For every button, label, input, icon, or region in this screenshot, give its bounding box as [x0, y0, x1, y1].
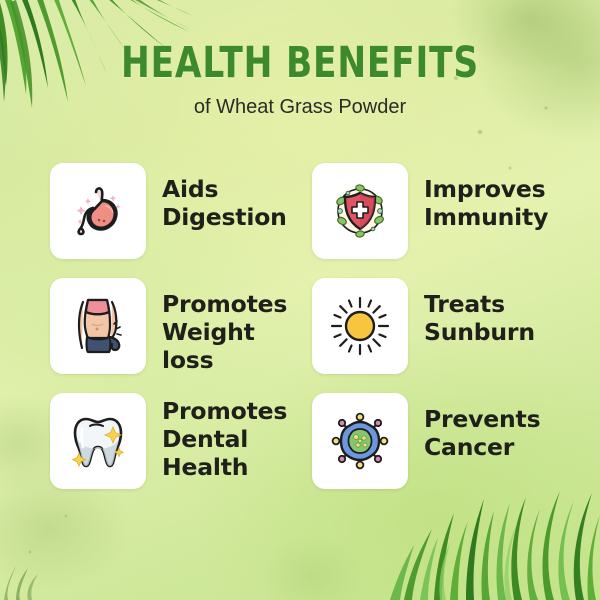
benefit-item-prevents-cancer[interactable]: Prevents Cancer [312, 393, 570, 508]
icon-card-dental [50, 393, 146, 489]
poster-header: HEALTH BENEFITS of Wheat Grass Powder [0, 40, 600, 119]
benefit-label-promotes-weight-loss: Promotes Weight loss [162, 278, 312, 374]
benefits-grid: Aids Digestion [50, 163, 570, 508]
page-title: HEALTH BENEFITS [60, 40, 540, 86]
slim-waist-icon [66, 294, 130, 358]
benefit-label-promotes-dental-health: Promotes Dental Health [162, 393, 287, 481]
benefit-label-improves-immunity: Improves Immunity [424, 163, 548, 231]
benefit-label-treats-sunburn: Treats Sunburn [424, 278, 535, 346]
stomach-icon [66, 179, 130, 243]
shield-cross-icon [328, 179, 392, 243]
benefit-item-promotes-weight-loss[interactable]: Promotes Weight loss [50, 278, 312, 393]
benefit-item-treats-sunburn[interactable]: Treats Sunburn [312, 278, 570, 393]
icon-card-sunburn [312, 278, 408, 374]
benefit-label-prevents-cancer: Prevents Cancer [424, 393, 540, 461]
benefit-item-aids-digestion[interactable]: Aids Digestion [50, 163, 312, 278]
icon-card-weight-loss [50, 278, 146, 374]
sun-icon [328, 294, 392, 358]
page-subtitle: of Wheat Grass Powder [0, 95, 600, 119]
icon-card-digestion [50, 163, 146, 259]
icon-card-immunity [312, 163, 408, 259]
infographic-poster: HEALTH BENEFITS of Wheat Grass Powder [0, 0, 600, 600]
cancer-cell-icon [328, 409, 392, 473]
benefit-label-aids-digestion: Aids Digestion [162, 163, 287, 231]
icon-card-cancer [312, 393, 408, 489]
tooth-icon [66, 409, 130, 473]
grass-decoration-bottom-left [0, 540, 120, 600]
benefit-item-improves-immunity[interactable]: Improves Immunity [312, 163, 570, 278]
benefit-item-promotes-dental-health[interactable]: Promotes Dental Health [50, 393, 312, 508]
